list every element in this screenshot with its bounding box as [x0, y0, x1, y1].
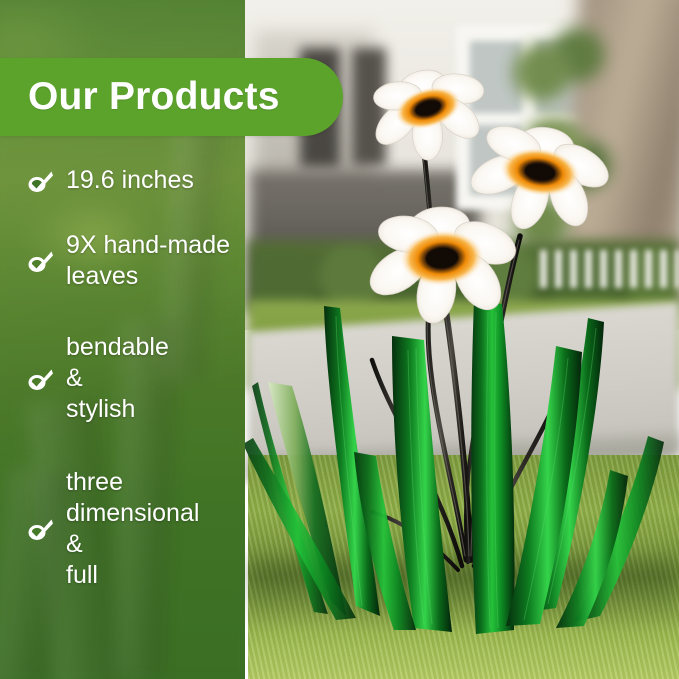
- section-title-banner: Our Products: [0, 58, 343, 136]
- checkmark-icon: [26, 246, 56, 276]
- feature-item-three-dimensional: three dimensional & full: [0, 467, 245, 591]
- feature-label: bendable & stylish: [66, 332, 169, 425]
- feature-item-size: 19.6 inches: [0, 165, 245, 196]
- feature-item-leaves: 9X hand-made leaves: [0, 230, 245, 292]
- checkmark-icon: [26, 514, 56, 544]
- feature-item-bendable: bendable & stylish: [0, 332, 245, 425]
- page-title: Our Products: [28, 75, 280, 119]
- feature-label: three dimensional & full: [66, 467, 199, 591]
- product-marketing-image: Our Products 19.6 inches 9X han: [0, 0, 679, 679]
- feature-label: 9X hand-made leaves: [66, 230, 230, 292]
- checkmark-icon: [26, 364, 56, 394]
- feature-label: 19.6 inches: [66, 165, 194, 196]
- feature-list: 19.6 inches 9X hand-made leaves bend: [0, 165, 245, 617]
- checkmark-icon: [26, 166, 56, 196]
